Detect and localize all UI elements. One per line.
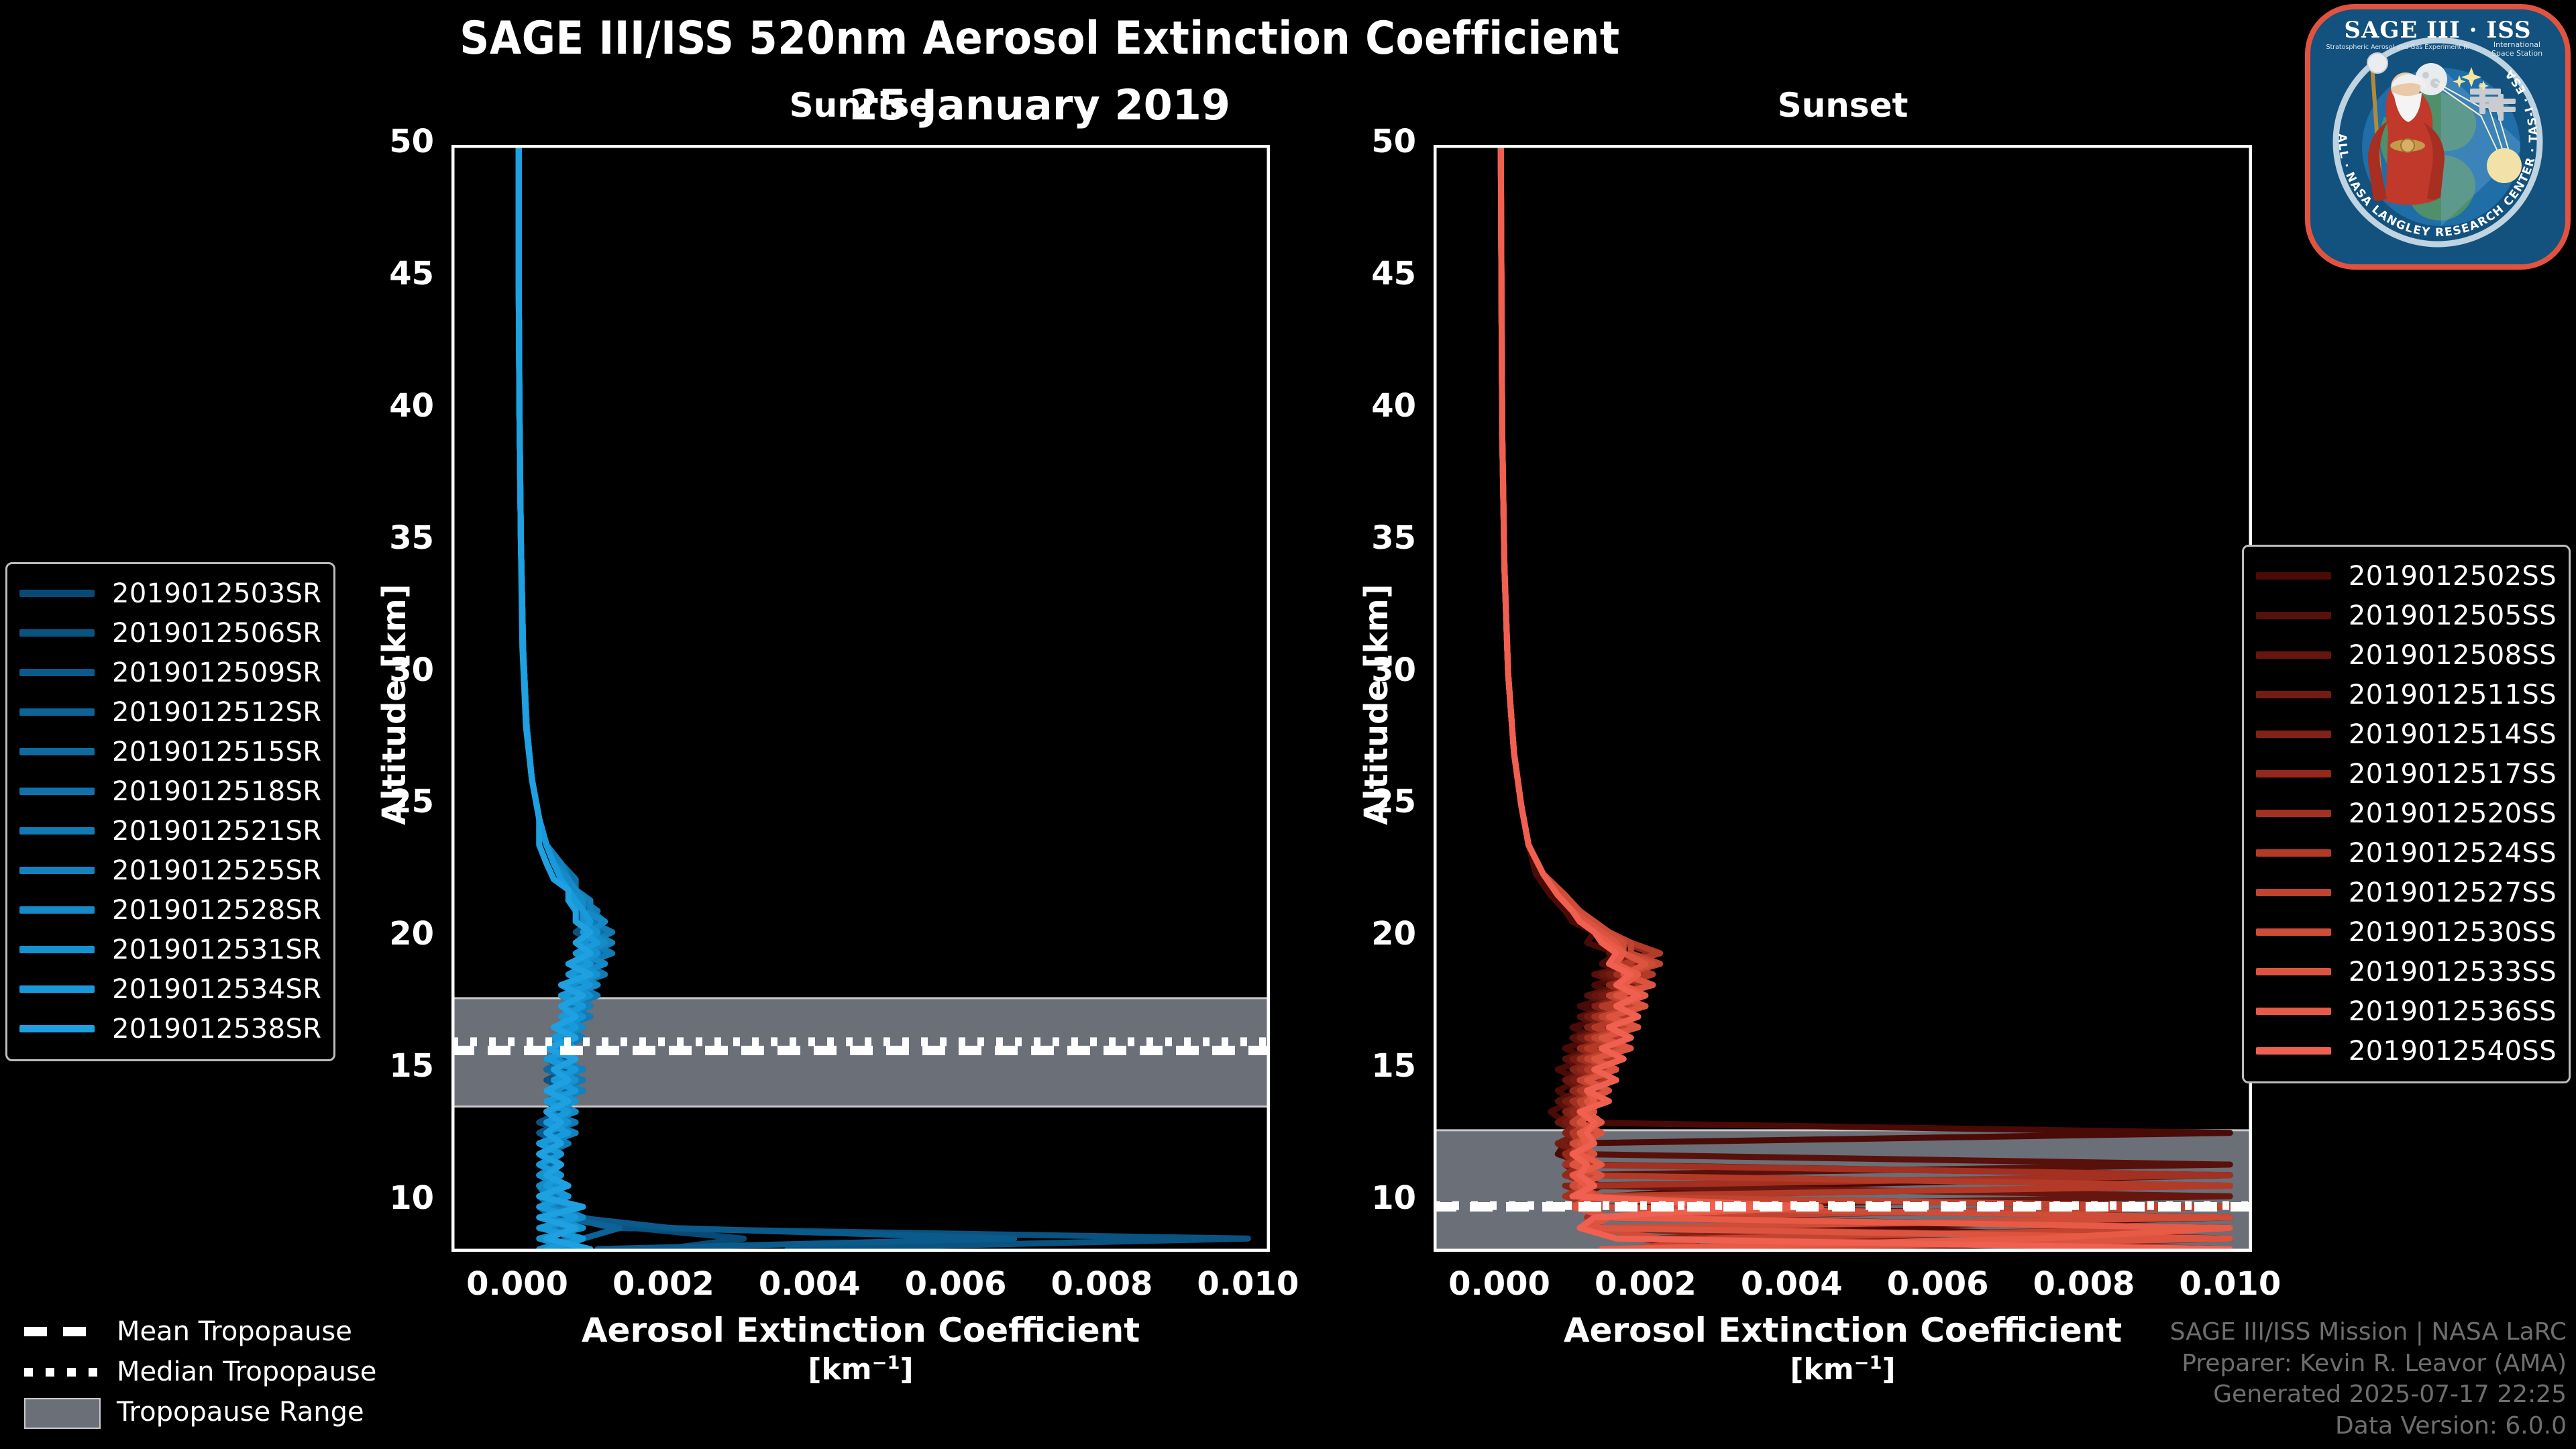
y-tick-label: 35 [389,522,434,554]
y-tick-label: 30 [389,654,434,686]
legend-item-label: 2019012538SR [112,1014,321,1044]
legend-item[interactable]: 2019012536SS [2256,991,2557,1031]
tropopause-legend: Mean Tropopause Median Tropopause Tropop… [24,1311,376,1432]
legend-color-swatch [19,708,95,716]
y-tick-label: 25 [1371,786,1416,818]
legend-item-label: 2019012527SS [2349,877,2557,908]
legend-item[interactable]: 2019012502SS [2256,556,2557,596]
legend-item-label: 2019012512SR [112,697,321,728]
y-tick-label: 45 [389,258,434,290]
axes-frame [1435,146,2251,1250]
logo-part [2401,139,2414,152]
y-tick-label: 15 [389,1050,434,1082]
legend-color-swatch [2256,849,2331,857]
x-tick-label: 0.008 [2017,1268,2151,1300]
legend-item-label: 2019012534SR [112,974,321,1005]
legend-row-median-tropopause: Median Tropopause [24,1352,376,1392]
legend-color-swatch [2256,572,2331,580]
legend-color-swatch [19,669,95,676]
legend-color-swatch [19,590,95,597]
logo-part: Stratospheric Aerosol and Gas Experiment… [2326,44,2469,51]
legend-color-swatch [2256,1008,2331,1015]
legend-item-label: 2019012525SR [112,855,321,886]
legend-color-swatch [2256,810,2331,817]
legend-item[interactable]: 2019012511SS [2256,675,2557,714]
gray-band-icon [24,1403,102,1421]
legend-item[interactable]: 2019012503SR [19,574,321,613]
legend-item[interactable]: 2019012520SS [2256,794,2557,833]
legend-color-swatch [19,748,95,755]
legend-item[interactable]: 2019012506SR [19,613,321,653]
legend-item-label: 2019012518SR [112,776,321,807]
sunset-x-axis-label: Aerosol Extinction Coefficient [km−1] [1434,1311,2252,1387]
x-tick-label: 0.006 [1871,1268,2005,1300]
y-tick-label: 10 [389,1182,434,1214]
legend-color-swatch [2256,770,2331,777]
legend-color-swatch [19,946,95,953]
x-axis-label-text: Aerosol Extinction Coefficient [582,1311,1140,1350]
logo-part [2482,103,2501,108]
legend-item-label: 2019012540SS [2349,1036,2557,1067]
legend-item-label: 2019012515SR [112,737,321,767]
y-tick-label: 20 [389,918,434,950]
legend-item[interactable]: 2019012524SS [2256,833,2557,873]
sunset-plot [1434,145,2252,1252]
legend-item[interactable]: 2019012528SR [19,890,321,930]
y-tick-label: 30 [1371,654,1416,686]
legend-item[interactable]: 2019012515SR [19,732,321,771]
legend-item-label: 2019012505SS [2349,600,2557,631]
y-tick-label: 45 [1371,258,1416,290]
x-tick-label: 0.008 [1034,1268,1169,1300]
y-tick-label: 10 [1371,1182,1416,1214]
x-tick-label: 0.004 [743,1268,877,1300]
credits-line-preparer: Preparer: Kevin R. Leavor (AMA) [2170,1348,2567,1380]
sunset-panel-title: Sunset [1434,89,2252,122]
dotted-line-icon [24,1363,102,1381]
legend-color-swatch [2256,612,2331,619]
legend-item[interactable]: 2019012512SR [19,692,321,732]
legend-item[interactable]: 2019012530SS [2256,912,2557,952]
series-line [1501,145,2230,1249]
legend-item-label: 2019012533SS [2349,957,2557,987]
legend-item[interactable]: 2019012509SR [19,653,321,692]
legend-item-label: 2019012528SR [112,895,321,926]
legend-row-tropopause-range: Tropopause Range [24,1392,376,1432]
legend-item-label: 2019012520SS [2349,798,2557,829]
legend-color-swatch [2256,731,2331,738]
legend-color-swatch [19,1025,95,1032]
median-tropopause-label: Median Tropopause [117,1356,376,1387]
credits-block: SAGE III/ISS Mission | NASA LaRC Prepare… [2170,1317,2567,1442]
legend-item[interactable]: 2019012514SS [2256,714,2557,754]
legend-item[interactable]: 2019012518SR [19,771,321,811]
legend-item-label: 2019012521SR [112,816,321,847]
x-axis-unit: [km−1] [808,1352,913,1387]
logo-part [2367,53,2387,73]
sage-iii-iss-mission-patch-logo: SAGE III · ISS Stratospheric Aerosol and… [2304,3,2572,271]
legend-item[interactable]: 2019012534SR [19,969,321,1009]
legend-row-mean-tropopause: Mean Tropopause [24,1311,376,1352]
y-tick-label: 40 [1371,390,1416,422]
mean-tropopause-label: Mean Tropopause [117,1316,352,1347]
legend-item-label: 2019012524SS [2349,838,2557,869]
x-tick-label: 0.000 [1432,1268,1566,1300]
legend-color-swatch [2256,1047,2331,1055]
legend-color-swatch [2256,889,2331,896]
legend-color-swatch [2256,691,2331,698]
legend-item-label: 2019012517SS [2349,759,2557,790]
legend-item[interactable]: 2019012508SS [2256,635,2557,675]
legend-item[interactable]: 2019012531SR [19,930,321,969]
legend-item[interactable]: 2019012521SR [19,811,321,851]
legend-item[interactable]: 2019012517SS [2256,754,2557,794]
y-tick-label: 35 [1371,522,1416,554]
y-tick-label: 15 [1371,1050,1416,1082]
x-axis-label-text: Aerosol Extinction Coefficient [1564,1311,2122,1350]
sunrise-x-axis-label: Aerosol Extinction Coefficient [km−1] [451,1311,1270,1387]
logo-part: SAGE III · ISS [2344,17,2531,44]
logo-part: Space Station [2491,49,2542,58]
sunset-series-legend[interactable]: 2019012502SS2019012505SS2019012508SS2019… [2242,545,2571,1083]
logo-part [2422,72,2429,78]
y-tick-label: 50 [389,125,434,158]
credits-line-data-version: Data Version: 6.0.0 [2170,1411,2567,1442]
sunrise-series-legend[interactable]: 2019012503SR2019012506SR2019012509SR2019… [5,562,335,1061]
x-tick-label: 0.010 [1181,1268,1315,1300]
logo-part [2487,148,2522,183]
legend-item-label: 2019012531SR [112,934,321,965]
legend-color-swatch [19,827,95,835]
legend-item[interactable]: 2019012527SS [2256,873,2557,912]
legend-item-label: 2019012508SS [2349,640,2557,671]
legend-item-label: 2019012506SR [112,618,321,649]
credits-line-mission: SAGE III/ISS Mission | NASA LaRC [2170,1317,2567,1348]
logo-part: International [2493,40,2540,49]
legend-color-swatch [2256,968,2331,975]
legend-item[interactable]: 2019012533SS [2256,952,2557,991]
x-axis-unit: [km−1] [1790,1352,1895,1387]
legend-item[interactable]: 2019012525SR [19,851,321,890]
legend-item-label: 2019012509SR [112,657,321,688]
legend-item-label: 2019012536SS [2349,996,2557,1027]
legend-color-swatch [19,985,95,993]
legend-item-label: 2019012503SR [112,578,321,609]
legend-item[interactable]: 2019012505SS [2256,596,2557,635]
sunrise-plot [451,145,1270,1252]
credits-line-generated: Generated 2025-07-17 22:25 [2170,1379,2567,1411]
legend-color-swatch [19,788,95,795]
legend-color-swatch [2256,928,2331,936]
legend-item-label: 2019012530SS [2349,917,2557,948]
x-tick-label: 0.004 [1725,1268,1859,1300]
legend-item-label: 2019012511SS [2349,680,2557,710]
x-tick-label: 0.002 [1578,1268,1713,1300]
y-tick-label: 20 [1371,918,1416,950]
legend-item-label: 2019012502SS [2349,561,2557,592]
x-tick-label: 0.002 [596,1268,731,1300]
tropopause-range-label: Tropopause Range [117,1397,364,1428]
page-title: SAGE III/ISS 520nm Aerosol Extinction Co… [0,16,2080,62]
x-tick-label: 0.000 [450,1268,584,1300]
dashed-line-icon [24,1323,102,1340]
x-tick-label: 0.010 [2163,1268,2297,1300]
legend-item[interactable]: 2019012538SR [19,1009,321,1049]
x-tick-label: 0.006 [889,1268,1023,1300]
legend-color-swatch [19,906,95,914]
legend-item-label: 2019012514SS [2349,719,2557,750]
y-tick-label: 25 [389,786,434,818]
y-tick-label: 40 [389,390,434,422]
y-tick-label: 50 [1371,125,1416,158]
legend-item[interactable]: 2019012540SS [2256,1031,2557,1071]
legend-color-swatch [19,867,95,874]
legend-color-swatch [2256,651,2331,659]
sunrise-panel-title: Sunrise [451,89,1270,122]
legend-color-swatch [19,629,95,637]
